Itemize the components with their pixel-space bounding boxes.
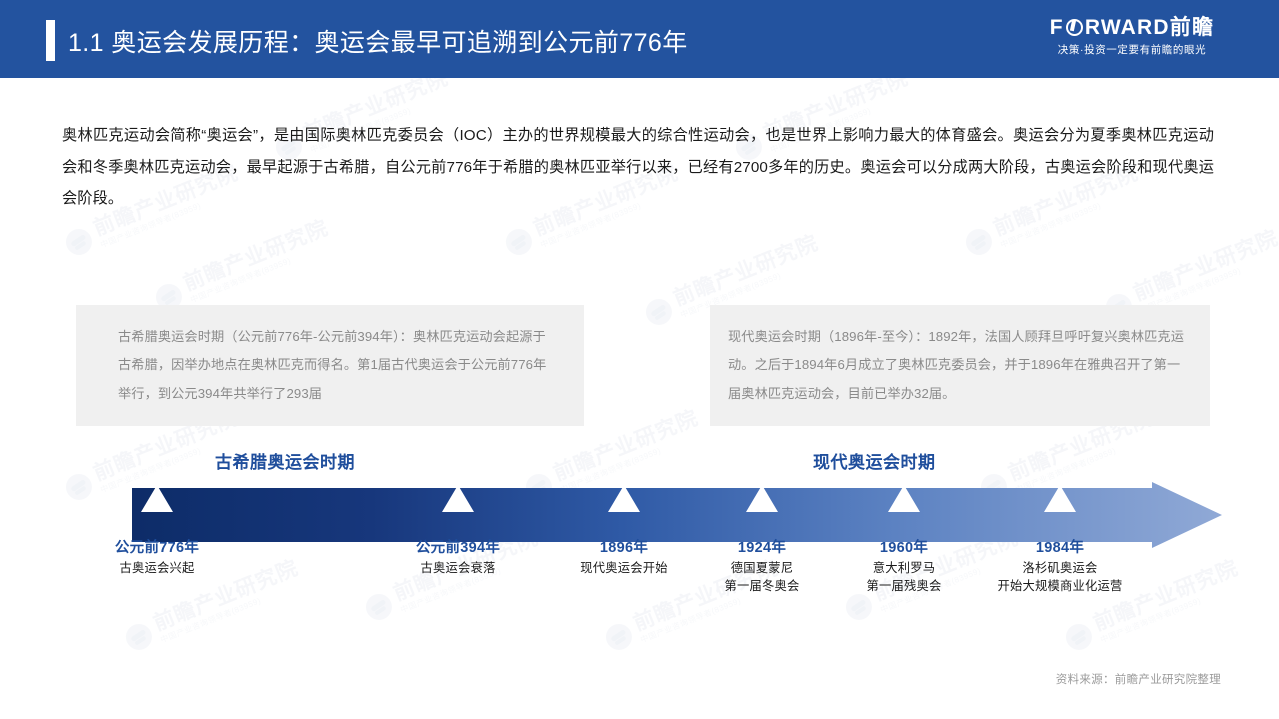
page-title: 1.1 奥运会发展历程：奥运会最早可追溯到公元前776年 xyxy=(68,20,688,61)
timeline-marker-1 xyxy=(442,485,474,512)
intro-paragraph: 奥林匹克运动会简称“奥运会”，是由国际奥林匹克委员会（IOC）主办的世界规模最大… xyxy=(62,120,1214,215)
timeline-year: 1960年 xyxy=(867,538,942,559)
brand-name-left: F xyxy=(1050,16,1064,40)
brand-logo: F RWARD前瞻 决策·投资一定要有前瞻的眼光 xyxy=(1027,16,1237,56)
timeline-marker-3 xyxy=(746,485,778,512)
timeline-desc-line1: 古奥运会兴起 xyxy=(115,559,199,577)
timeline-year: 1924年 xyxy=(725,538,800,559)
source-note: 资料来源：前瞻产业研究院整理 xyxy=(1056,671,1221,687)
timeline-desc-line1: 德国夏蒙尼 xyxy=(725,559,800,577)
note-text-modern: 现代奥运会时期（1896年-至今）：1892年，法国人顾拜旦呼吁复兴奥林匹克运动… xyxy=(710,323,1210,408)
header-bar: 1.1 奥运会发展历程：奥运会最早可追溯到公元前776年 F RWARD前瞻 决… xyxy=(0,0,1279,78)
timeline-desc-line2: 开始大规模商业化运营 xyxy=(998,577,1123,595)
timeline-entry: 1896年现代奥运会开始 xyxy=(580,538,667,577)
timeline-marker-2 xyxy=(608,485,640,512)
timeline: 古希腊奥运会时期 现代奥运会时期 公元前776年古奥运会兴起公元前394年古奥运… xyxy=(0,440,1279,620)
timeline-desc-line1: 现代奥运会开始 xyxy=(580,559,667,577)
timeline-year: 公元前394年 xyxy=(416,538,500,559)
timeline-marker-0 xyxy=(141,485,173,512)
watermark-big-text: 前瞻产业研究院 xyxy=(180,216,332,296)
watermark-small-text: 中国产业咨询领导者(83959) xyxy=(189,239,335,305)
note-box-modern-olympics: 现代奥运会时期（1896年-至今）：1892年，法国人顾拜旦呼吁复兴奥林匹克运动… xyxy=(710,305,1210,426)
timeline-year: 公元前776年 xyxy=(115,538,199,559)
watermark-logo-icon xyxy=(642,295,676,329)
timeline-desc-line1: 古奥运会衰落 xyxy=(416,559,500,577)
title-accent-bar xyxy=(46,20,55,61)
watermark-logo-icon xyxy=(502,225,536,259)
logo-o-icon xyxy=(1066,19,1083,36)
timeline-marker-5 xyxy=(1044,485,1076,512)
timeline-desc-line2: 第一届残奥会 xyxy=(867,577,942,595)
watermark-logo-icon xyxy=(962,225,996,259)
timeline-marker-4 xyxy=(888,485,920,512)
era-label-ancient: 古希腊奥运会时期 xyxy=(215,448,355,473)
watermark-logo-icon xyxy=(122,620,156,654)
timeline-entry: 1984年洛杉矶奥运会开始大规模商业化运营 xyxy=(998,538,1123,596)
watermark-logo-icon xyxy=(62,225,96,259)
timeline-desc-line2: 第一届冬奥会 xyxy=(725,577,800,595)
brand-name-right: RWARD前瞻 xyxy=(1085,16,1214,40)
timeline-entry: 公元前776年古奥运会兴起 xyxy=(115,538,199,577)
note-box-ancient-olympics: 古希腊奥运会时期（公元前776年-公元前394年）：奥林匹克运动会起源于古希腊，… xyxy=(76,305,584,426)
timeline-entry: 公元前394年古奥运会衰落 xyxy=(416,538,500,577)
watermark-tile: 前瞻产业研究院中国产业咨询领导者(83959) xyxy=(151,216,336,317)
watermark-big-text: 前瞻产业研究院 xyxy=(1130,226,1279,306)
watermark-logo-icon xyxy=(1062,620,1096,654)
timeline-year: 1896年 xyxy=(580,538,667,559)
watermark-logo-icon xyxy=(602,620,636,654)
brand-tagline: 决策·投资一定要有前瞻的眼光 xyxy=(1027,44,1237,57)
era-label-modern: 现代奥运会时期 xyxy=(813,448,936,473)
timeline-entry: 1924年德国夏蒙尼第一届冬奥会 xyxy=(725,538,800,596)
brand-name: F RWARD前瞻 xyxy=(1027,16,1237,40)
timeline-entry: 1960年意大利罗马第一届残奥会 xyxy=(867,538,942,596)
watermark-big-text: 前瞻产业研究院 xyxy=(670,231,822,311)
timeline-year: 1984年 xyxy=(998,538,1123,559)
timeline-desc-line1: 洛杉矶奥运会 xyxy=(998,559,1123,577)
timeline-desc-line1: 意大利罗马 xyxy=(867,559,942,577)
note-text-ancient: 古希腊奥运会时期（公元前776年-公元前394年）：奥林匹克运动会起源于古希腊，… xyxy=(76,323,584,408)
